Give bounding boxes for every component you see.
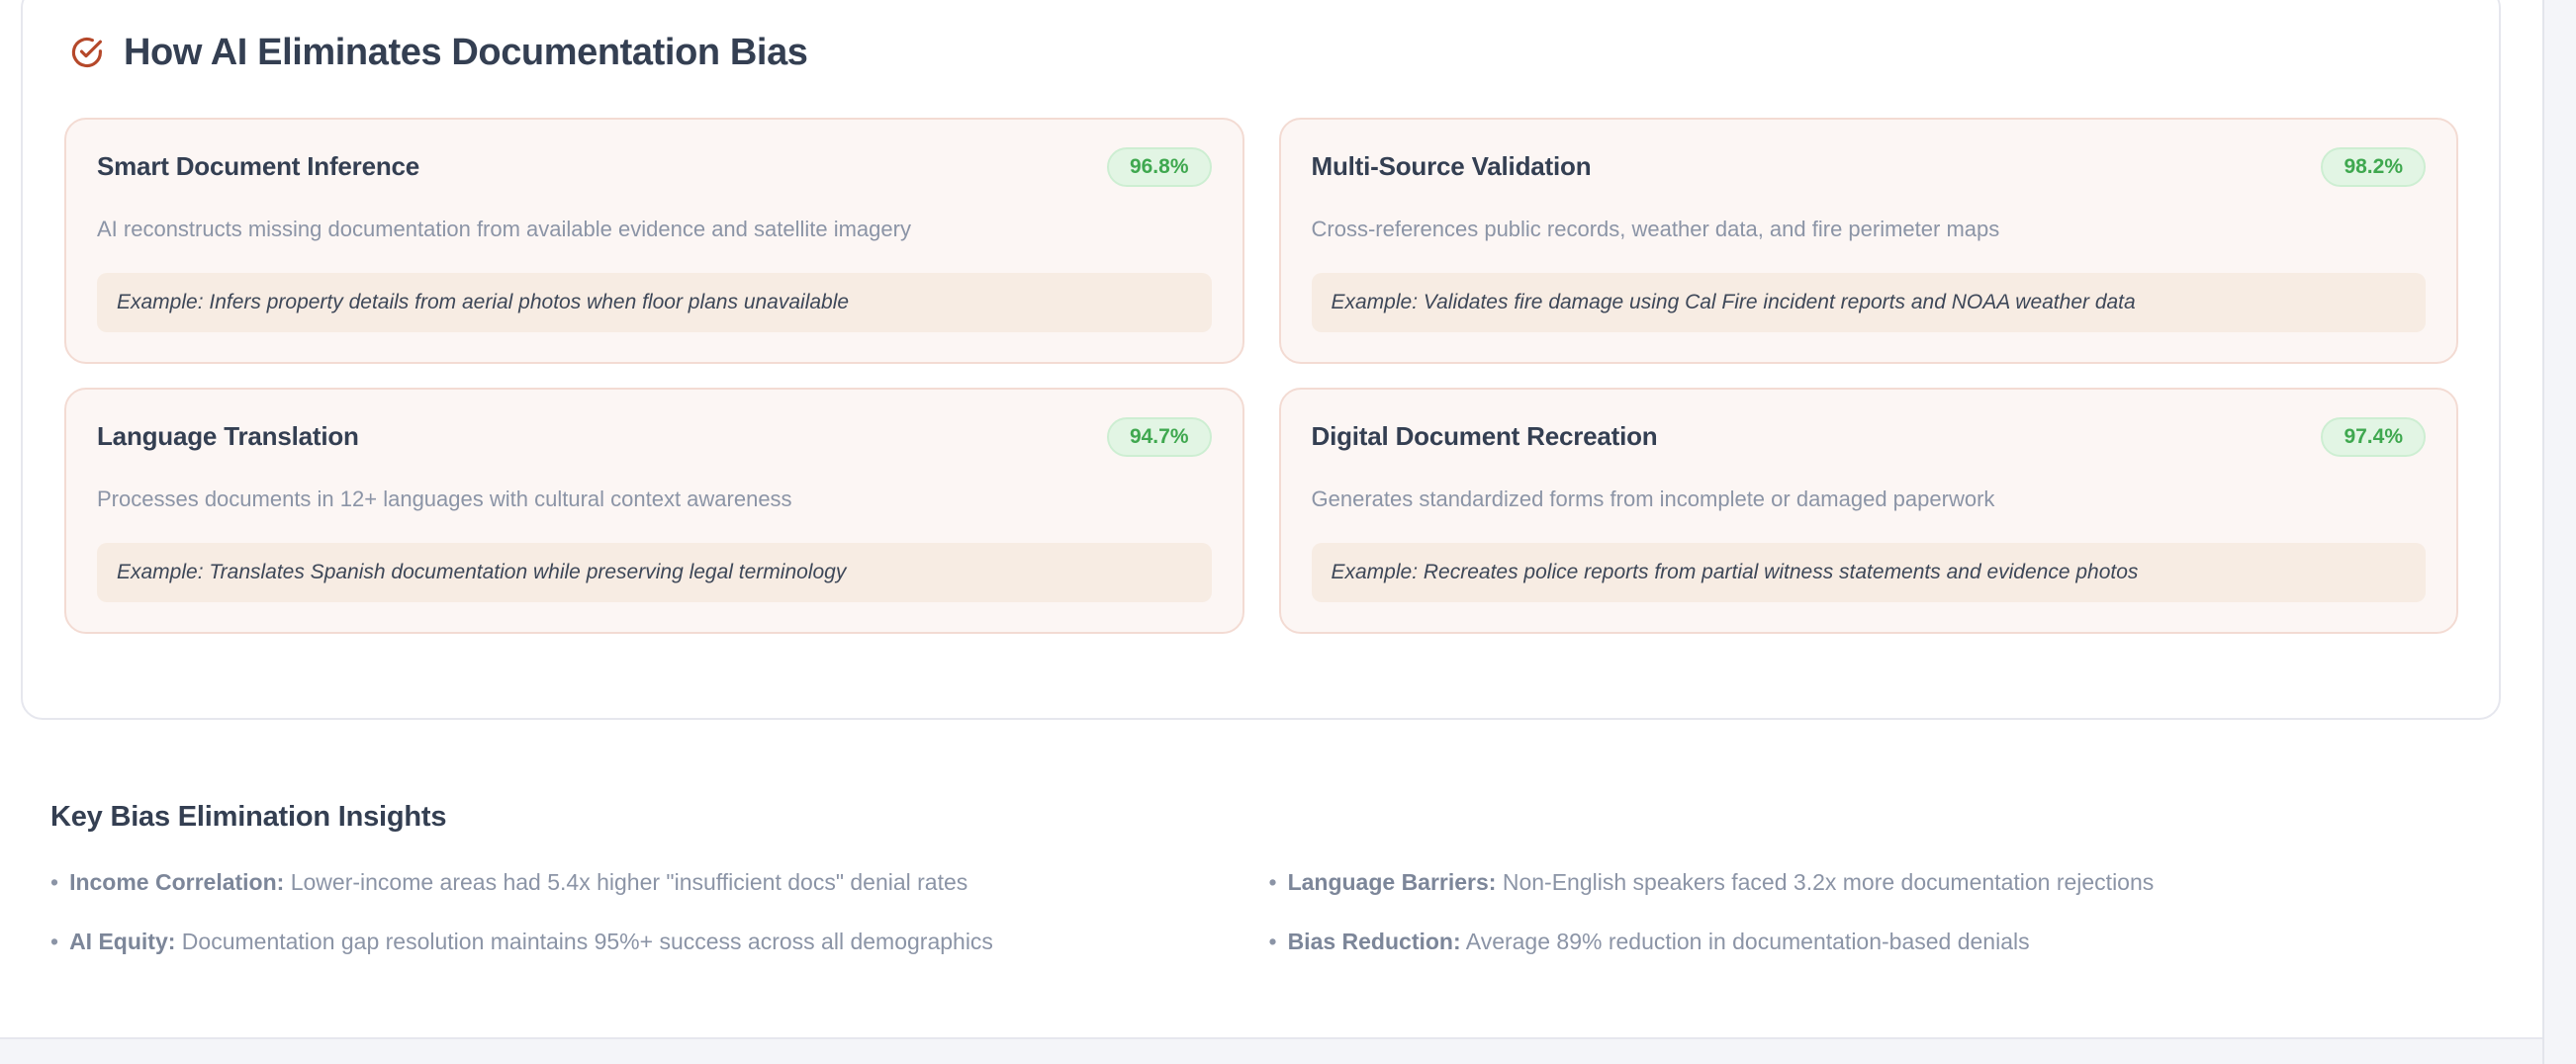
method-card[interactable]: Digital Document Recreation 97.4% Genera… xyxy=(1279,388,2459,634)
bullet-icon: • xyxy=(50,867,58,898)
card-description: Processes documents in 12+ languages wit… xyxy=(97,485,1212,515)
insights-title: Key Bias Elimination Insights xyxy=(50,803,2454,832)
page-title: How AI Eliminates Documentation Bias xyxy=(124,34,808,71)
card-description: Generates standardized forms from incomp… xyxy=(1312,485,2427,515)
insight-body: Language Barriers: Non-English speakers … xyxy=(1288,867,2155,898)
insight-label: AI Equity: xyxy=(69,929,175,954)
insight-text: Documentation gap resolution maintains 9… xyxy=(182,929,993,954)
card-header: Multi-Source Validation 98.2% xyxy=(1312,147,2427,187)
card-title: Smart Document Inference xyxy=(97,152,419,182)
bullet-icon: • xyxy=(1269,867,1277,898)
check-circle-icon xyxy=(68,35,104,70)
documentation-bias-panel: How AI Eliminates Documentation Bias Sma… xyxy=(21,0,2501,720)
card-title: Multi-Source Validation xyxy=(1312,152,1592,182)
insight-text: Average 89% reduction in documentation-b… xyxy=(1466,929,2030,954)
bullet-icon: • xyxy=(50,927,58,957)
card-description: AI reconstructs missing documentation fr… xyxy=(97,215,1212,245)
example-box: Example: Translates Spanish documentatio… xyxy=(97,543,1212,602)
insight-body: AI Equity: Documentation gap resolution … xyxy=(69,927,993,957)
insights-grid: • Income Correlation: Lower-income areas… xyxy=(50,867,2454,957)
insight-label: Bias Reduction: xyxy=(1288,929,1461,954)
panel-header: How AI Eliminates Documentation Bias xyxy=(23,0,2499,71)
key-insights-section: Key Bias Elimination Insights • Income C… xyxy=(50,803,2454,957)
card-header: Language Translation 94.7% xyxy=(97,417,1212,457)
page-bottom-strip xyxy=(0,1039,2542,1064)
accuracy-badge: 97.4% xyxy=(2321,417,2426,457)
example-box: Example: Infers property details from ae… xyxy=(97,273,1212,332)
example-text: Example: Translates Spanish documentatio… xyxy=(117,559,1192,585)
insight-item: • Income Correlation: Lower-income areas… xyxy=(50,867,1237,898)
example-text: Example: Infers property details from ae… xyxy=(117,289,1192,315)
card-description: Cross-references public records, weather… xyxy=(1312,215,2427,245)
example-text: Example: Validates fire damage using Cal… xyxy=(1332,289,2407,315)
page-scrollbar-gutter[interactable] xyxy=(2542,0,2576,1064)
example-box: Example: Validates fire damage using Cal… xyxy=(1312,273,2427,332)
insight-label: Language Barriers: xyxy=(1288,869,1497,895)
insight-text: Lower-income areas had 5.4x higher "insu… xyxy=(291,869,968,895)
insight-body: Income Correlation: Lower-income areas h… xyxy=(69,867,967,898)
page-content: How AI Eliminates Documentation Bias Sma… xyxy=(0,0,2542,1064)
method-card[interactable]: Multi-Source Validation 98.2% Cross-refe… xyxy=(1279,118,2459,364)
card-header: Smart Document Inference 96.8% xyxy=(97,147,1212,187)
insight-text: Non-English speakers faced 3.2x more doc… xyxy=(1503,869,2154,895)
card-title: Language Translation xyxy=(97,422,359,452)
example-text: Example: Recreates police reports from p… xyxy=(1332,559,2407,585)
insight-item: • AI Equity: Documentation gap resolutio… xyxy=(50,927,1237,957)
card-header: Digital Document Recreation 97.4% xyxy=(1312,417,2427,457)
method-card-grid: Smart Document Inference 96.8% AI recons… xyxy=(64,118,2458,634)
method-card[interactable]: Smart Document Inference 96.8% AI recons… xyxy=(64,118,1244,364)
method-card[interactable]: Language Translation 94.7% Processes doc… xyxy=(64,388,1244,634)
insight-item: • Bias Reduction: Average 89% reduction … xyxy=(1269,927,2455,957)
accuracy-badge: 96.8% xyxy=(1107,147,1212,187)
insight-label: Income Correlation: xyxy=(69,869,284,895)
bullet-icon: • xyxy=(1269,927,1277,957)
card-title: Digital Document Recreation xyxy=(1312,422,1658,452)
accuracy-badge: 94.7% xyxy=(1107,417,1212,457)
insight-body: Bias Reduction: Average 89% reduction in… xyxy=(1288,927,2030,957)
insight-item: • Language Barriers: Non-English speaker… xyxy=(1269,867,2455,898)
example-box: Example: Recreates police reports from p… xyxy=(1312,543,2427,602)
accuracy-badge: 98.2% xyxy=(2321,147,2426,187)
